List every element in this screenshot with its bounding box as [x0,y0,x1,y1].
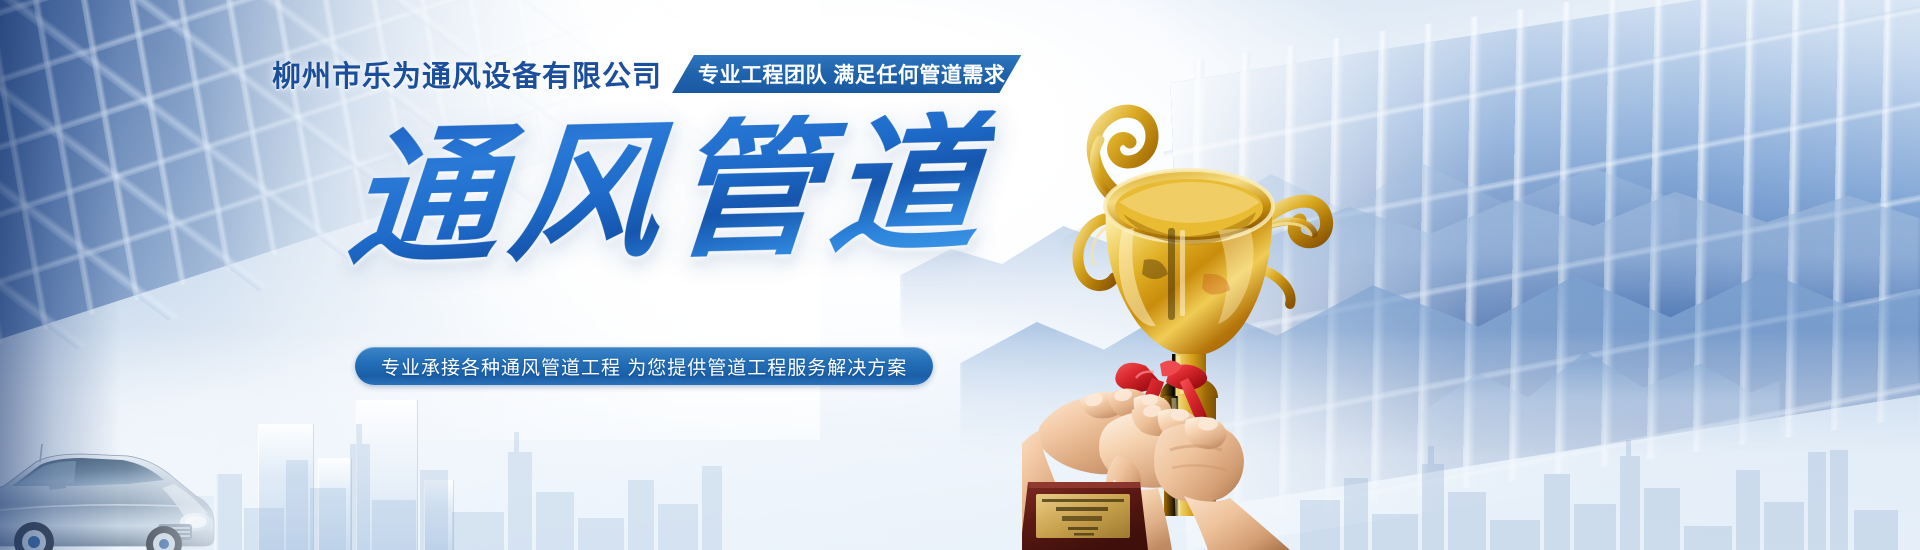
trophy-and-hands [1022,78,1402,550]
sub-tagline-text: 专业承接各种通风管道工程 为您提供管道工程服务解决方案 [381,353,907,380]
company-name: 柳州市乐为通风设备有限公司 [272,53,662,95]
company-headline-row: 柳州市乐为通风设备有限公司 专业工程团队 满足任何管道需求 [272,54,1021,94]
sub-tagline-pill: 专业承接各种通风管道工程 为您提供管道工程服务解决方案 [355,347,933,385]
page-title: 通风管道 [343,110,997,276]
feature-badge-label: 专业工程团队 满足任何管道需求 [698,59,1005,89]
left-edge-vignette [0,0,120,550]
city-skyline-left [180,400,740,550]
promo-banner: 柳州市乐为通风设备有限公司 专业工程团队 满足任何管道需求 通风管道 专业承接各… [0,0,1920,550]
feature-badge: 专业工程团队 满足任何管道需求 [672,55,1021,93]
